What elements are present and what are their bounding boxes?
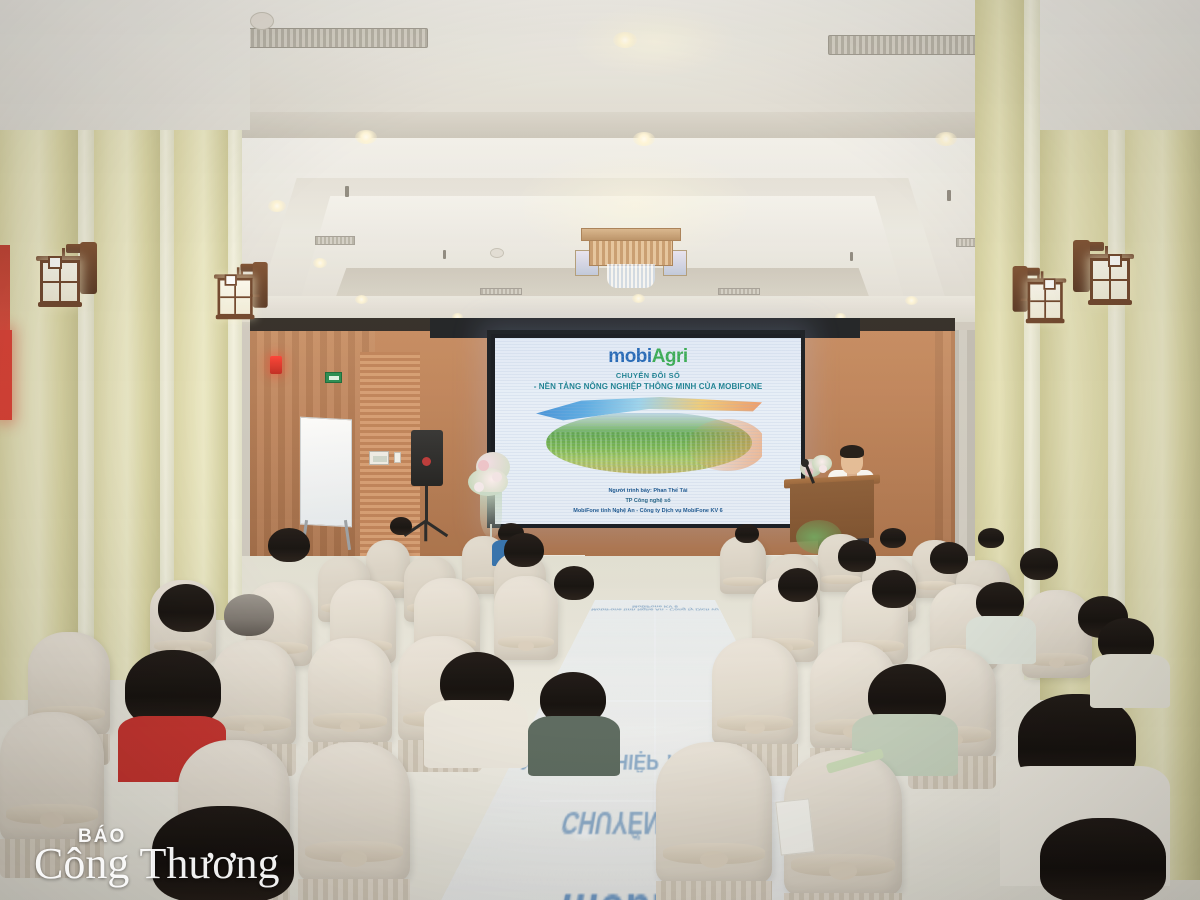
pa-speaker-icon bbox=[411, 430, 443, 486]
ceiling-speaker-icon bbox=[250, 12, 274, 30]
downlight-icon bbox=[355, 130, 377, 144]
chair bbox=[656, 742, 772, 884]
led-screen: mobiAgri CHUYỂN ĐỔI SỐ - NỀN TẢNG NÔNG N… bbox=[487, 330, 805, 528]
audience-head bbox=[390, 517, 412, 535]
handout-paper bbox=[775, 798, 814, 855]
audience-head-foreground bbox=[152, 806, 294, 900]
audience-head bbox=[778, 568, 818, 602]
slide-title-line2: - NỀN TẢNG NÔNG NGHIỆP THÔNG MINH CỦA MO… bbox=[501, 382, 795, 391]
audience-head bbox=[978, 528, 1004, 548]
downlight-icon bbox=[633, 132, 655, 146]
chair bbox=[0, 712, 104, 842]
slide-credit-line2: TP Công nghệ số bbox=[501, 496, 795, 506]
audience-head bbox=[158, 584, 214, 632]
audience-head-foreground bbox=[1040, 818, 1166, 900]
wall-lantern-sconce bbox=[214, 262, 269, 332]
ceiling-speaker-icon bbox=[490, 248, 504, 258]
slide-credit-block: Người trình bày: Phan Thế Tài TP Công ng… bbox=[501, 486, 795, 517]
presentation-slide: mobiAgri CHUYỂN ĐỔI SỐ - NỀN TẢNG NÔNG N… bbox=[495, 338, 801, 524]
downlight-icon bbox=[355, 295, 368, 304]
downlight-icon bbox=[268, 200, 286, 212]
downlight-icon bbox=[935, 132, 957, 146]
slide-field-image bbox=[534, 397, 762, 481]
crystal-chandelier bbox=[575, 228, 687, 290]
ac-vent-icon bbox=[315, 236, 355, 245]
downlight-icon bbox=[613, 32, 637, 48]
downlight-icon bbox=[313, 258, 327, 268]
screen-surface: mobiAgri CHUYỂN ĐỔI SỐ - NỀN TẢNG NÔNG N… bbox=[495, 338, 801, 524]
slide-credit-line3: MobiFone tỉnh Nghệ An - Công ty Dịch vụ … bbox=[501, 506, 795, 516]
audience-head bbox=[268, 528, 310, 562]
audience-head bbox=[838, 540, 876, 572]
wall-control-panel bbox=[369, 451, 389, 465]
audience-head bbox=[872, 570, 916, 608]
chair bbox=[712, 638, 798, 746]
audience-shirt bbox=[528, 716, 620, 776]
audience-head bbox=[735, 524, 759, 543]
logo-text-agri: Agri bbox=[652, 346, 688, 367]
slide-title-line1: CHUYỂN ĐỔI SỐ bbox=[501, 371, 795, 380]
speaker-tripod-pole bbox=[425, 486, 428, 522]
speaker-hair bbox=[840, 445, 864, 458]
chair bbox=[494, 576, 558, 660]
logo-text-mobi: mobi bbox=[608, 346, 651, 367]
audience-shirt bbox=[424, 700, 528, 768]
ac-vent-icon bbox=[480, 288, 522, 295]
mobiagri-logo: mobiAgri bbox=[501, 347, 795, 366]
sprinkler-icon bbox=[850, 252, 853, 261]
downlight-icon bbox=[632, 294, 645, 303]
light-glow bbox=[575, 6, 735, 76]
audience-head bbox=[554, 566, 594, 600]
sprinkler-icon bbox=[443, 250, 446, 259]
slide-credit-line1: Người trình bày: Phan Thế Tài bbox=[501, 486, 795, 496]
audience-head bbox=[504, 533, 544, 567]
chair bbox=[308, 638, 392, 744]
reflection-line-credit: MobiFone tỉnh Nghệ An - Công ty Dịch vụ … bbox=[590, 605, 721, 611]
downlight-icon bbox=[905, 296, 918, 305]
wall-lantern-sconce bbox=[36, 242, 98, 322]
exit-sign-icon bbox=[325, 372, 342, 383]
audience-head bbox=[880, 528, 906, 548]
fire-alarm-icon bbox=[270, 356, 282, 374]
audience-shirt bbox=[1090, 654, 1170, 708]
chair bbox=[720, 536, 766, 594]
conference-hall-photo: mobiAgri CHUYỂN ĐỔI SỐ - NỀN TẢNG NÔNG N… bbox=[0, 0, 1200, 900]
left-wall-red-light bbox=[0, 330, 12, 420]
sprinkler-icon bbox=[947, 190, 951, 201]
wall-lantern-sconce bbox=[1072, 240, 1134, 320]
ac-vent-icon bbox=[718, 288, 760, 295]
wall-switch-box bbox=[394, 452, 401, 463]
tripod-leg bbox=[425, 521, 428, 541]
sprinkler-icon bbox=[345, 186, 349, 197]
audience-head bbox=[1020, 548, 1058, 580]
column-far-right bbox=[1125, 0, 1200, 880]
ceiling-right-cap bbox=[1040, 0, 1200, 130]
flipchart-easel bbox=[300, 417, 352, 528]
ceiling-left-cap bbox=[0, 0, 250, 130]
wall-lantern-sconce bbox=[1012, 266, 1067, 336]
audience-head bbox=[224, 594, 274, 636]
audience-head bbox=[930, 542, 968, 574]
chair bbox=[298, 742, 410, 882]
